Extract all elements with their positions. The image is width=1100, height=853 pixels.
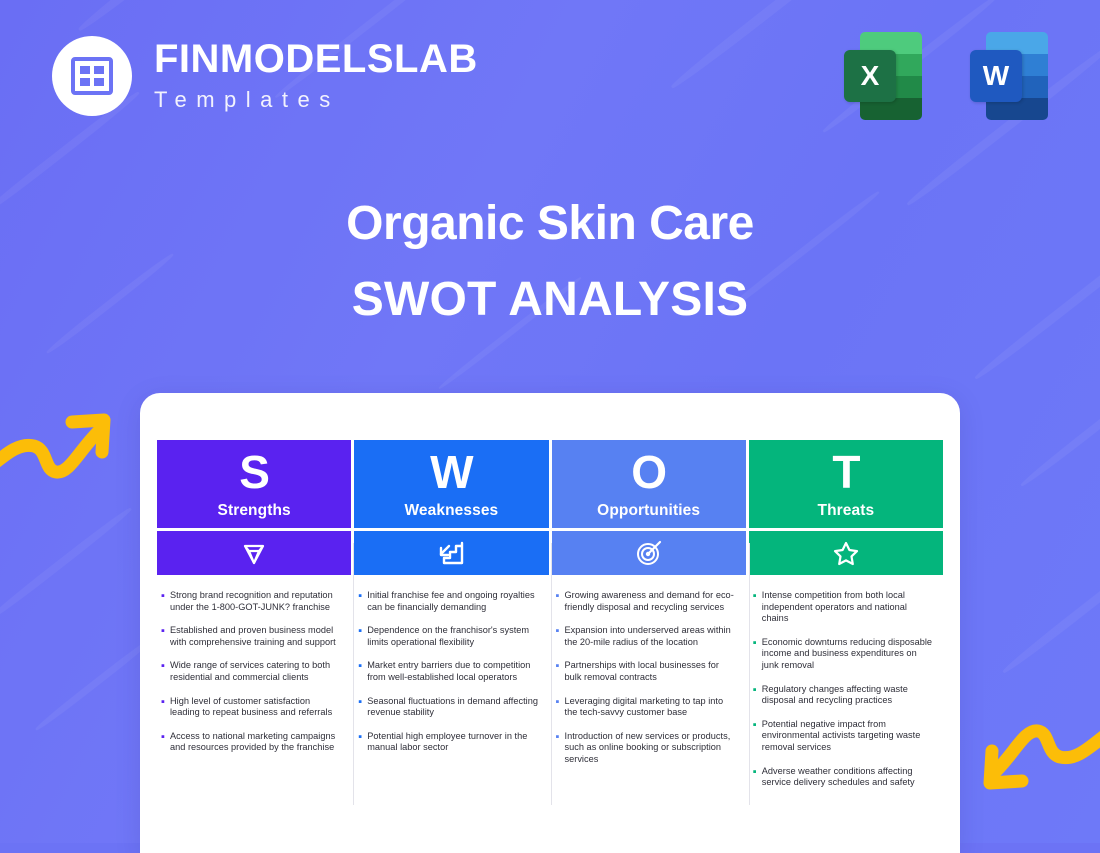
diamond-icon	[157, 531, 351, 575]
column-bullet-list: ▪Strong brand recognition and reputation…	[157, 575, 351, 766]
bullet-dot-icon: ▪	[159, 696, 170, 719]
bullet-item: ▪Initial franchise fee and ongoing royal…	[356, 590, 538, 613]
bullet-text: Strong brand recognition and reputation …	[170, 590, 341, 613]
brand-subtitle: Templates	[154, 87, 478, 113]
swot-card: SStrengths▪Strong brand recognition and …	[140, 393, 960, 853]
bullet-dot-icon: ▪	[159, 590, 170, 613]
grid-window-icon	[71, 57, 113, 95]
bullet-item: ▪Leveraging digital marketing to tap int…	[554, 696, 736, 719]
bullet-dot-icon: ▪	[356, 590, 367, 613]
column-letter: T	[832, 449, 859, 495]
column-header-strengths: SStrengths	[157, 440, 351, 528]
bullet-item: ▪Wide range of services catering to both…	[159, 660, 341, 683]
bullet-item: ▪Economic downturns reducing disposable …	[751, 637, 933, 672]
bullet-text: Potential negative impact from environme…	[762, 719, 933, 754]
bullet-item: ▪Partnerships with local businesses for …	[554, 660, 736, 683]
column-label: Strengths	[218, 502, 291, 520]
bullet-dot-icon: ▪	[159, 660, 170, 683]
bullet-dot-icon: ▪	[554, 731, 565, 766]
column-label: Weaknesses	[404, 502, 498, 520]
bullet-item: ▪Market entry barriers due to competitio…	[356, 660, 538, 683]
bullet-text: Economic downturns reducing disposable i…	[762, 637, 933, 672]
bullet-item: ▪Access to national marketing campaigns …	[159, 731, 341, 754]
bullet-dot-icon: ▪	[751, 637, 762, 672]
bullet-item: ▪Potential high employee turnover in the…	[356, 731, 538, 754]
bullet-text: Introduction of new services or products…	[565, 731, 736, 766]
bullet-dot-icon: ▪	[554, 660, 565, 683]
excel-icon[interactable]: X	[844, 26, 922, 121]
bullet-text: Established and proven business model wi…	[170, 625, 341, 648]
swot-column-weaknesses: WWeaknesses▪Initial franchise fee and on…	[354, 440, 548, 801]
column-bullet-list: ▪Intense competition from both local ind…	[749, 575, 943, 801]
brand-logo[interactable]: FINMODELSLAB Templates	[52, 36, 478, 116]
bullet-text: Access to national marketing campaigns a…	[170, 731, 341, 754]
bullet-item: ▪Regulatory changes affecting waste disp…	[751, 684, 933, 707]
bullet-text: Adverse weather conditions affecting ser…	[762, 766, 933, 789]
bullet-text: Dependence on the franchisor's system li…	[367, 625, 538, 648]
bullet-text: Potential high employee turnover in the …	[367, 731, 538, 754]
bullet-text: Seasonal fluctuations in demand affectin…	[367, 696, 538, 719]
swot-column-opportunities: OOpportunities▪Growing awareness and dem…	[552, 440, 746, 801]
column-divider	[749, 543, 750, 805]
bullet-item: ▪Intense competition from both local ind…	[751, 590, 933, 625]
descending-stairs-icon	[354, 531, 548, 575]
column-letter: S	[239, 449, 269, 495]
bullet-item: ▪Potential negative impact from environm…	[751, 719, 933, 754]
brand-name: FINMODELSLAB	[154, 39, 478, 79]
column-label: Threats	[818, 502, 875, 520]
column-divider	[353, 543, 354, 805]
word-icon[interactable]: W	[970, 26, 1048, 121]
target-icon	[552, 531, 746, 575]
swot-column-strengths: SStrengths▪Strong brand recognition and …	[157, 440, 351, 801]
title-line-1: Organic Skin Care	[0, 196, 1100, 253]
column-label: Opportunities	[597, 502, 700, 520]
bullet-item: ▪High level of customer satisfaction lea…	[159, 696, 341, 719]
bullet-dot-icon: ▪	[554, 590, 565, 613]
bullet-dot-icon: ▪	[554, 625, 565, 648]
bullet-dot-icon: ▪	[751, 766, 762, 789]
bullet-text: Regulatory changes affecting waste dispo…	[762, 684, 933, 707]
bullet-dot-icon: ▪	[751, 684, 762, 707]
bullet-text: High level of customer satisfaction lead…	[170, 696, 341, 719]
title-line-2: SWOT ANALYSIS	[0, 274, 1100, 327]
page-header: FINMODELSLAB Templates X W	[0, 0, 1100, 150]
column-header-opportunities: OOpportunities	[552, 440, 746, 528]
bullet-text: Expansion into underserved areas within …	[565, 625, 736, 648]
column-bullet-list: ▪Initial franchise fee and ongoing royal…	[354, 575, 548, 766]
bullet-dot-icon: ▪	[751, 590, 762, 625]
format-icons: X W	[844, 26, 1048, 121]
column-bullet-list: ▪Growing awareness and demand for eco-fr…	[552, 575, 746, 778]
excel-badge: X	[844, 50, 896, 102]
bullet-text: Market entry barriers due to competition…	[367, 660, 538, 683]
bullet-text: Growing awareness and demand for eco-fri…	[565, 590, 736, 613]
bullet-item: ▪Dependence on the franchisor's system l…	[356, 625, 538, 648]
star-icon	[749, 531, 943, 575]
bullet-dot-icon: ▪	[751, 719, 762, 754]
bullet-item: ▪Established and proven business model w…	[159, 625, 341, 648]
column-header-threats: TThreats	[749, 440, 943, 528]
page-title: Organic Skin Care SWOT ANALYSIS	[0, 196, 1100, 326]
bullet-text: Intense competition from both local inde…	[762, 590, 933, 625]
bullet-dot-icon: ▪	[159, 731, 170, 754]
bullet-item: ▪Expansion into underserved areas within…	[554, 625, 736, 648]
bullet-item: ▪Strong brand recognition and reputation…	[159, 590, 341, 613]
bullet-dot-icon: ▪	[159, 625, 170, 648]
bullet-dot-icon: ▪	[356, 625, 367, 648]
column-letter: W	[430, 449, 472, 495]
swot-table: SStrengths▪Strong brand recognition and …	[157, 440, 943, 801]
bullet-text: Initial franchise fee and ongoing royalt…	[367, 590, 538, 613]
bullet-dot-icon: ▪	[356, 731, 367, 754]
bullet-dot-icon: ▪	[356, 660, 367, 683]
bullet-text: Partnerships with local businesses for b…	[565, 660, 736, 683]
bullet-text: Leveraging digital marketing to tap into…	[565, 696, 736, 719]
column-letter: O	[631, 449, 666, 495]
logo-circle	[52, 36, 132, 116]
bullet-dot-icon: ▪	[554, 696, 565, 719]
bullet-dot-icon: ▪	[356, 696, 367, 719]
bullet-item: ▪Seasonal fluctuations in demand affecti…	[356, 696, 538, 719]
bullet-item: ▪Growing awareness and demand for eco-fr…	[554, 590, 736, 613]
swot-column-threats: TThreats▪Intense competition from both l…	[749, 440, 943, 801]
column-divider	[551, 543, 552, 805]
bullet-item: ▪Introduction of new services or product…	[554, 731, 736, 766]
column-header-weaknesses: WWeaknesses	[354, 440, 548, 528]
bullet-text: Wide range of services catering to both …	[170, 660, 341, 683]
word-badge: W	[970, 50, 1022, 102]
bullet-item: ▪Adverse weather conditions affecting se…	[751, 766, 933, 789]
